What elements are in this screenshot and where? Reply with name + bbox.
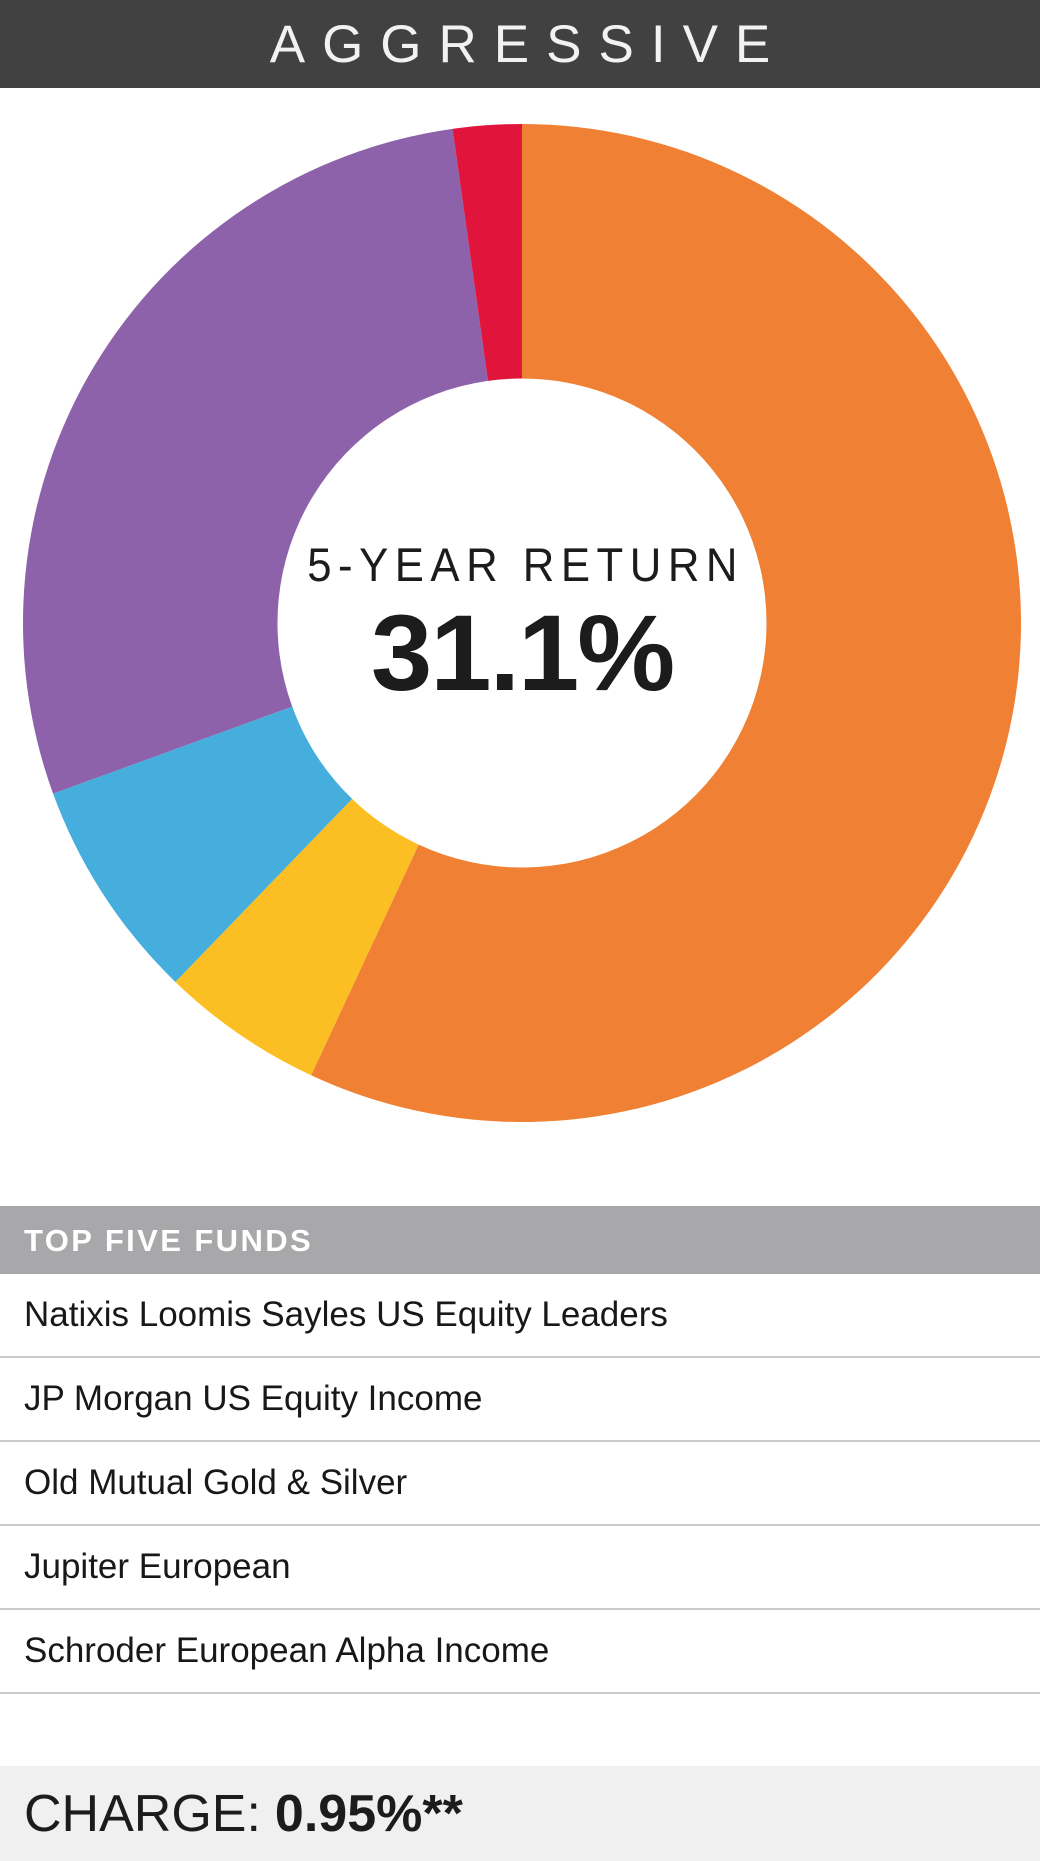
charge-label: CHARGE: <box>24 1788 261 1840</box>
donut-chart-svg <box>17 118 1027 1128</box>
header-bar: AGGRESSIVE <box>0 0 1040 88</box>
chart-area: 5-YEAR RETURN 31.1% <box>0 88 1040 1206</box>
fund-name: JP Morgan US Equity Income <box>24 1380 482 1419</box>
funds-row-group: Natixis Loomis Sayles US Equity LeadersJ… <box>0 1274 1040 1694</box>
funds-table-header: TOP FIVE FUNDS <box>0 1206 1040 1274</box>
fund-row: Jupiter European <box>0 1526 1040 1610</box>
page-title: AGGRESSIVE <box>253 18 788 71</box>
donut-slice <box>23 129 488 794</box>
fund-name: Old Mutual Gold & Silver <box>24 1464 407 1503</box>
top-five-funds-table: TOP FIVE FUNDS Natixis Loomis Sayles US … <box>0 1206 1040 1694</box>
charge-footer: CHARGE: 0.95%** <box>0 1766 1040 1861</box>
fund-row: Natixis Loomis Sayles US Equity Leaders <box>0 1274 1040 1358</box>
fund-row: Schroder European Alpha Income <box>0 1610 1040 1694</box>
fund-name: Jupiter European <box>24 1548 291 1587</box>
fund-name: Schroder European Alpha Income <box>24 1632 549 1671</box>
funds-table-header-label: TOP FIVE FUNDS <box>24 1225 313 1256</box>
fund-row: JP Morgan US Equity Income <box>0 1358 1040 1442</box>
donut-slice-group <box>23 124 1021 1122</box>
fund-name: Natixis Loomis Sayles US Equity Leaders <box>24 1296 668 1335</box>
infographic-page: AGGRESSIVE 5-YEAR RETURN 31.1% TOP FIVE … <box>0 0 1040 1861</box>
charge-value: 0.95%** <box>275 1788 463 1840</box>
fund-row: Old Mutual Gold & Silver <box>0 1442 1040 1526</box>
donut-chart: 5-YEAR RETURN 31.1% <box>17 118 1027 1128</box>
